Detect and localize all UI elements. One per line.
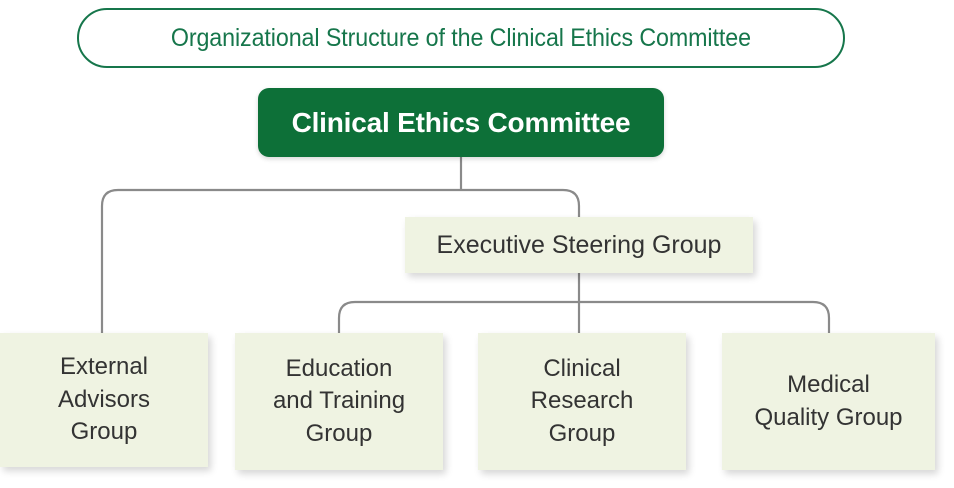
node-label: Executive Steering Group <box>431 228 728 262</box>
node-clinical-ethics-committee[interactable]: Clinical Ethics Committee <box>258 88 664 157</box>
node-executive-steering-group[interactable]: Executive Steering Group <box>405 217 753 273</box>
node-medical-quality-group[interactable]: Medical Quality Group <box>722 333 935 470</box>
node-external-advisors-group[interactable]: External Advisors Group <box>0 333 208 467</box>
node-label: External Advisors Group <box>52 351 156 449</box>
node-label: Medical Quality Group <box>748 369 908 434</box>
node-education-and-training-group[interactable]: Education and Training Group <box>235 333 443 470</box>
node-clinical-research-group[interactable]: Clinical Research Group <box>478 333 686 470</box>
node-label: Clinical Research Group <box>525 353 640 451</box>
org-chart-canvas: Organizational Structure of the Clinical… <box>0 0 954 488</box>
edge-esg-to-medical <box>579 302 829 333</box>
chart-title-text: Organizational Structure of the Clinical… <box>171 24 751 53</box>
edge-root-to-esg <box>461 190 579 217</box>
node-label: Clinical Ethics Committee <box>292 107 631 139</box>
edge-esg-to-education <box>339 302 579 333</box>
node-label: Education and Training Group <box>267 353 411 451</box>
chart-title-pill: Organizational Structure of the Clinical… <box>77 8 845 68</box>
